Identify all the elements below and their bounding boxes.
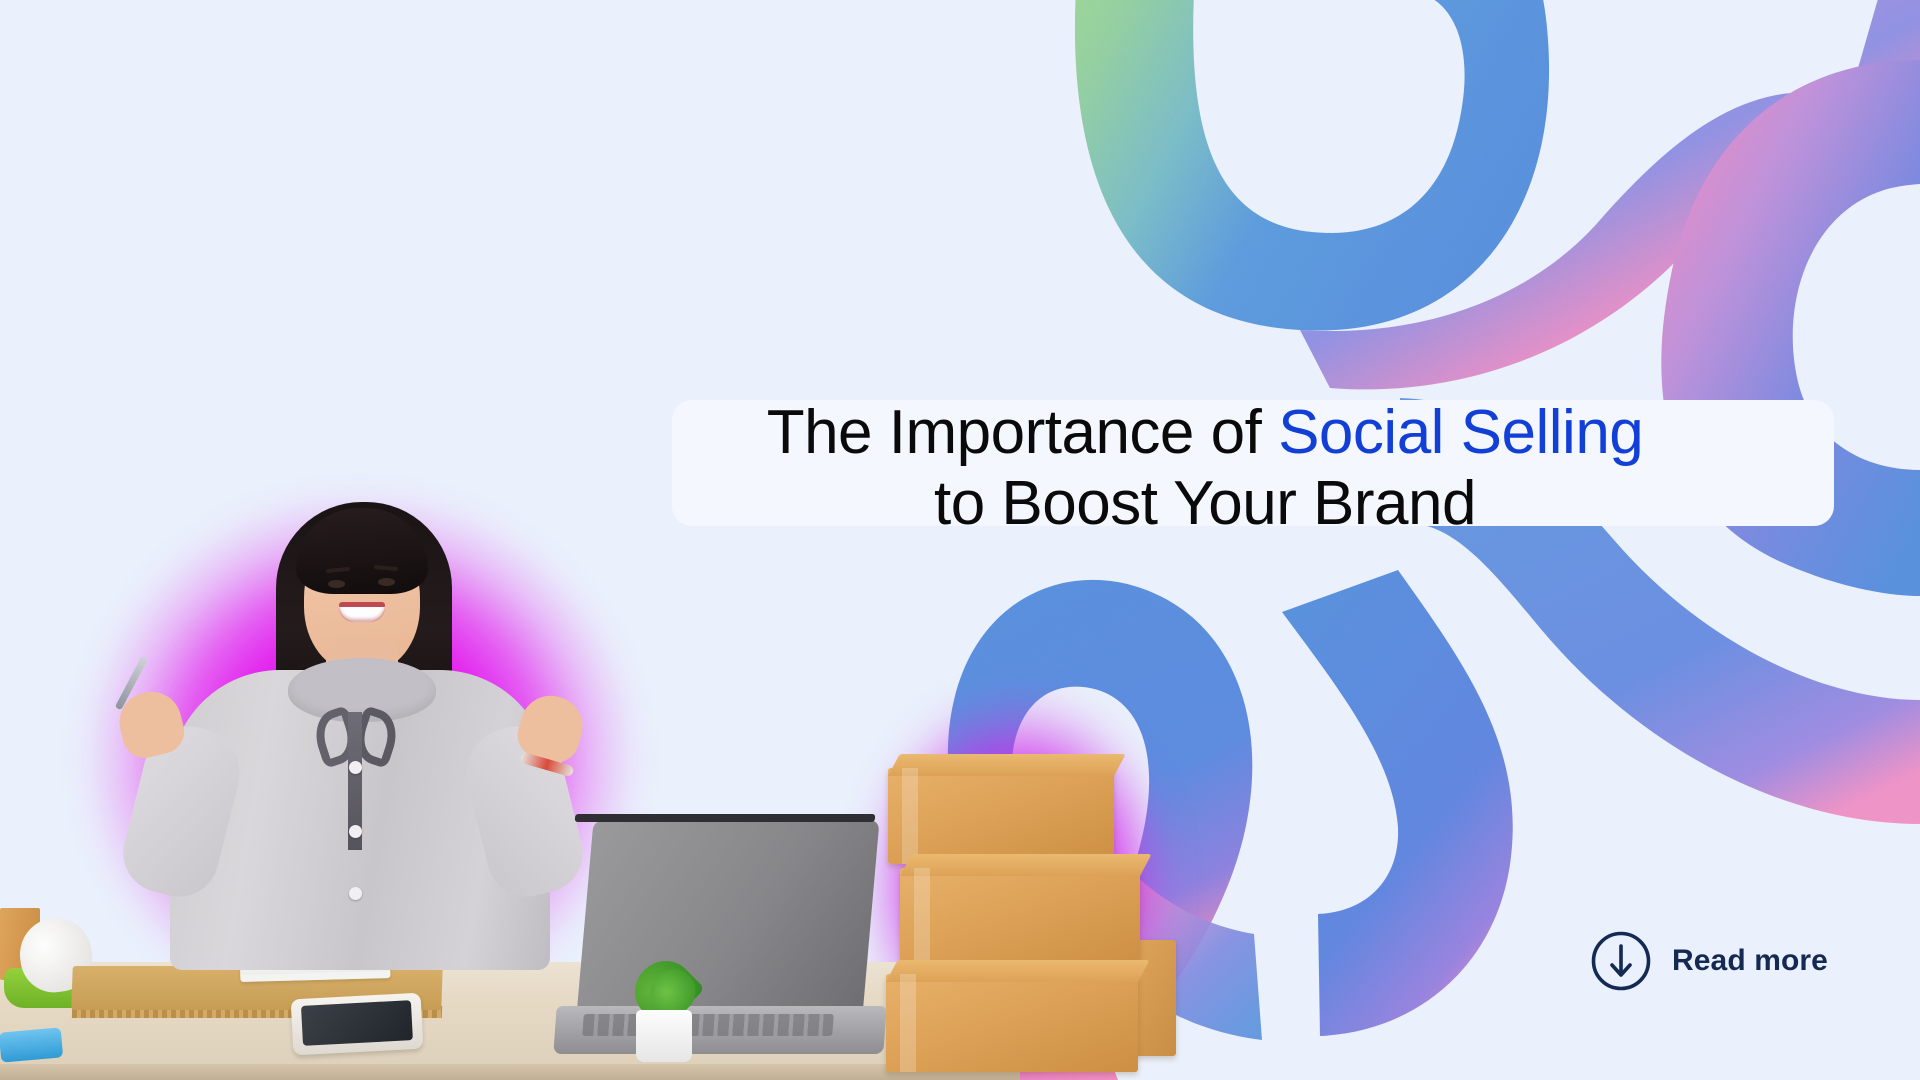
headline-line-2: to Boost Your Brand bbox=[560, 469, 1850, 540]
box-tape bbox=[900, 974, 916, 1072]
hero-banner: The Importance of Social Selling to Boos… bbox=[0, 0, 1920, 1080]
blouse-button bbox=[349, 887, 362, 900]
parcel-box-top bbox=[888, 768, 1114, 864]
smartphone-screen bbox=[301, 1000, 413, 1046]
box-tape bbox=[902, 768, 918, 864]
eye-left bbox=[328, 580, 345, 588]
page-title: The Importance of Social Selling to Boos… bbox=[560, 398, 1850, 539]
laptop bbox=[555, 824, 875, 1054]
laptop-keyboard bbox=[582, 1014, 834, 1036]
box-lid bbox=[888, 754, 1126, 776]
headline-line-1: The Importance of Social Selling bbox=[560, 398, 1850, 469]
arrow-down-circle-icon[interactable] bbox=[1590, 930, 1652, 992]
blouse-button bbox=[349, 761, 362, 774]
desk-edge bbox=[0, 1064, 1020, 1080]
laptop-screen bbox=[576, 820, 879, 1016]
parcel-box-middle bbox=[900, 868, 1140, 968]
heart-plant bbox=[628, 952, 700, 1062]
parcel-box-stack bbox=[880, 750, 1180, 1080]
read-more-label[interactable]: Read more bbox=[1672, 944, 1828, 978]
laptop-hinge bbox=[575, 814, 876, 822]
box-lid bbox=[900, 854, 1152, 876]
eye-right bbox=[378, 578, 395, 586]
blouse-button bbox=[349, 825, 362, 838]
stapler bbox=[0, 1027, 63, 1062]
headline-accent: Social Selling bbox=[1278, 398, 1643, 467]
read-more-button[interactable]: Read more bbox=[1590, 930, 1828, 992]
headline-prefix: The Importance of bbox=[767, 398, 1278, 467]
smartphone bbox=[291, 993, 424, 1056]
plant-pot bbox=[636, 1010, 692, 1062]
parcel-box-bottom bbox=[886, 974, 1138, 1072]
woman-subject bbox=[120, 450, 600, 970]
box-lid bbox=[886, 960, 1150, 982]
box-tape bbox=[914, 868, 930, 968]
